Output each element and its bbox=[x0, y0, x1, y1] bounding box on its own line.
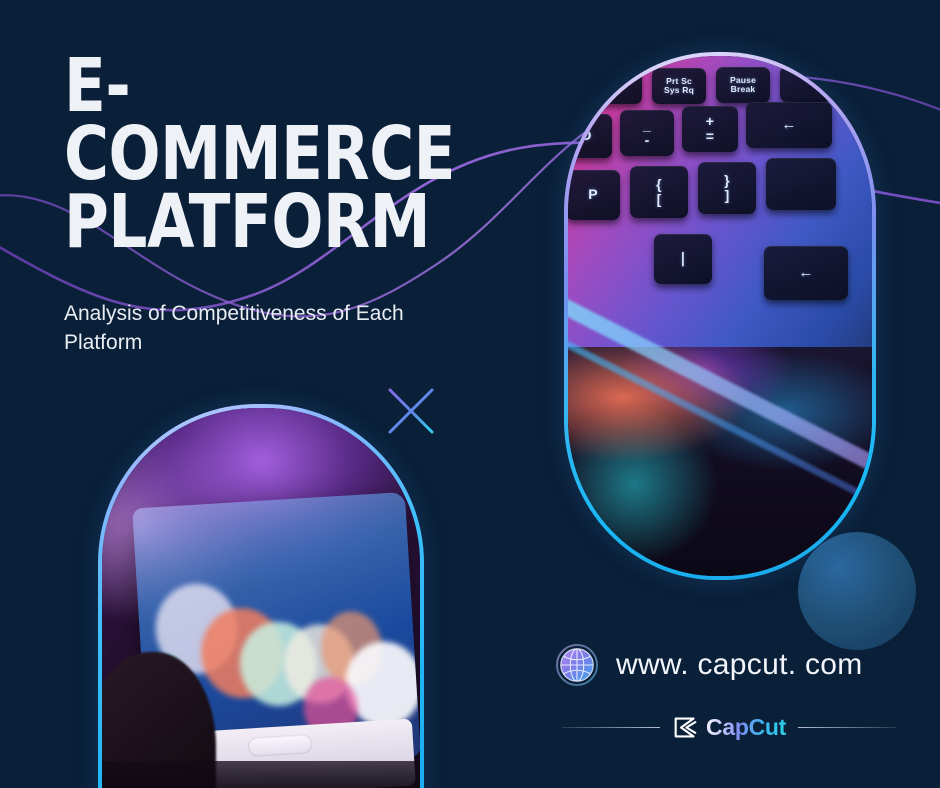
key-semicolon: ∣ bbox=[654, 234, 712, 284]
brand-row: CapCut bbox=[556, 714, 896, 741]
key-backspace: ← bbox=[746, 102, 832, 148]
footer-block: www. capcut. com CapCut bbox=[556, 644, 896, 741]
headline-block: E-COMMERCEPLATFORM Analysis of Competiti… bbox=[64, 52, 494, 357]
key-pause-break: Pause Break bbox=[716, 67, 770, 103]
page-subtitle: Analysis of Competitiveness of Each Plat… bbox=[64, 300, 454, 357]
key-insert bbox=[780, 66, 832, 102]
website-row[interactable]: www. capcut. com bbox=[556, 644, 896, 686]
website-url: www. capcut. com bbox=[616, 648, 863, 682]
sparkle-star-icon bbox=[378, 378, 444, 444]
key-p: P bbox=[568, 170, 620, 220]
page-title: E-COMMERCEPLATFORM bbox=[64, 52, 460, 256]
globe-icon bbox=[556, 644, 598, 686]
divider-left bbox=[562, 727, 660, 728]
capcut-brand-name: CapCut bbox=[706, 714, 786, 741]
key-brace-close: }] bbox=[698, 162, 756, 214]
capcut-logo-mark-icon bbox=[672, 715, 699, 740]
neon-keyboard-photo: Prt Sc Sys Rq Pause Break O _- += ← P {[… bbox=[568, 56, 872, 576]
hand-holding-phone-photo bbox=[102, 408, 420, 788]
title-line-2: PLATFORM bbox=[64, 188, 460, 256]
key-enter: ← bbox=[764, 246, 848, 300]
capcut-brand[interactable]: CapCut bbox=[672, 714, 786, 741]
key-plus-equals: += bbox=[682, 106, 738, 152]
phone-image-panel bbox=[98, 404, 424, 788]
key-o: O bbox=[568, 114, 612, 158]
key-brace-open: {[ bbox=[630, 166, 688, 218]
key-minus-underscore: _- bbox=[620, 110, 674, 156]
key-print-screen: Prt Sc Sys Rq bbox=[652, 68, 706, 104]
title-line-1: E-COMMERCE bbox=[64, 43, 455, 197]
keyboard-image-panel: Prt Sc Sys Rq Pause Break O _- += ← P {[… bbox=[564, 52, 876, 580]
divider-right bbox=[798, 727, 896, 728]
key-enter-upper bbox=[766, 158, 836, 210]
poster-canvas: E-COMMERCEPLATFORM Analysis of Competiti… bbox=[0, 0, 940, 788]
key-f12 bbox=[594, 70, 642, 104]
